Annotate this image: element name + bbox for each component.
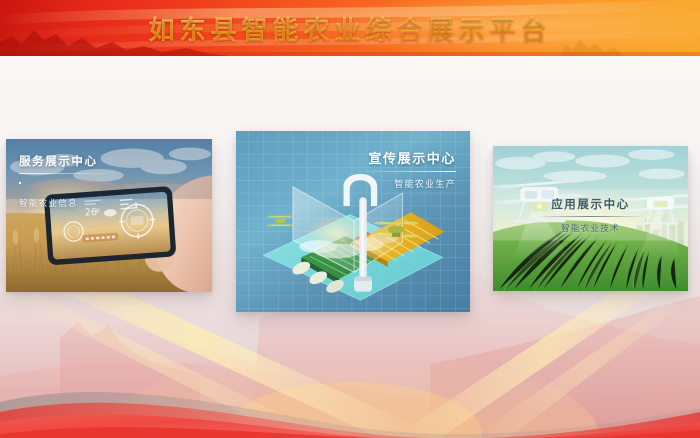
card-application-center-divider <box>536 216 646 217</box>
card-service-center-subtitle: 智能农业信息 <box>19 197 115 209</box>
card-service-center-text: 服务展示中心 智能农业信息 <box>19 153 115 209</box>
card-promotion-center-text: 宣传展示中心 智能农业生产 <box>352 148 456 190</box>
card-promotion-center-divider <box>352 171 456 172</box>
card-service-center-inner: 26 <box>6 139 212 292</box>
card-application-center[interactable]: 应用展示中心 智能农业技术 <box>493 146 688 291</box>
card-application-center-subtitle: 智能农业技术 <box>493 222 688 234</box>
card-service-center-title: 服务展示中心 <box>19 153 115 169</box>
card-application-center-inner: 应用展示中心 智能农业技术 <box>493 146 688 291</box>
card-application-center-title: 应用展示中心 <box>493 196 688 212</box>
page-root: 如东县智能农业综合展示平台 <box>0 0 700 438</box>
header-banner: 如东县智能农业综合展示平台 <box>0 0 700 56</box>
card-service-center-dot <box>19 182 21 184</box>
card-application-center-text: 应用展示中心 智能农业技术 <box>493 196 688 234</box>
card-promotion-center-subtitle: 智能农业生产 <box>352 177 456 190</box>
page-title-text: 如东县智能农业综合展示平台 <box>148 10 551 47</box>
card-service-center-divider <box>19 173 115 174</box>
card-promotion-center-title: 宣传展示中心 <box>352 148 456 167</box>
card-promotion-center[interactable]: 宣传展示中心 智能农业生产 <box>236 131 470 312</box>
page-title: 如东县智能农业综合展示平台 <box>0 0 700 56</box>
card-service-center[interactable]: 26 <box>6 139 212 292</box>
card-promotion-center-inner: 宣传展示中心 智能农业生产 <box>236 131 470 312</box>
